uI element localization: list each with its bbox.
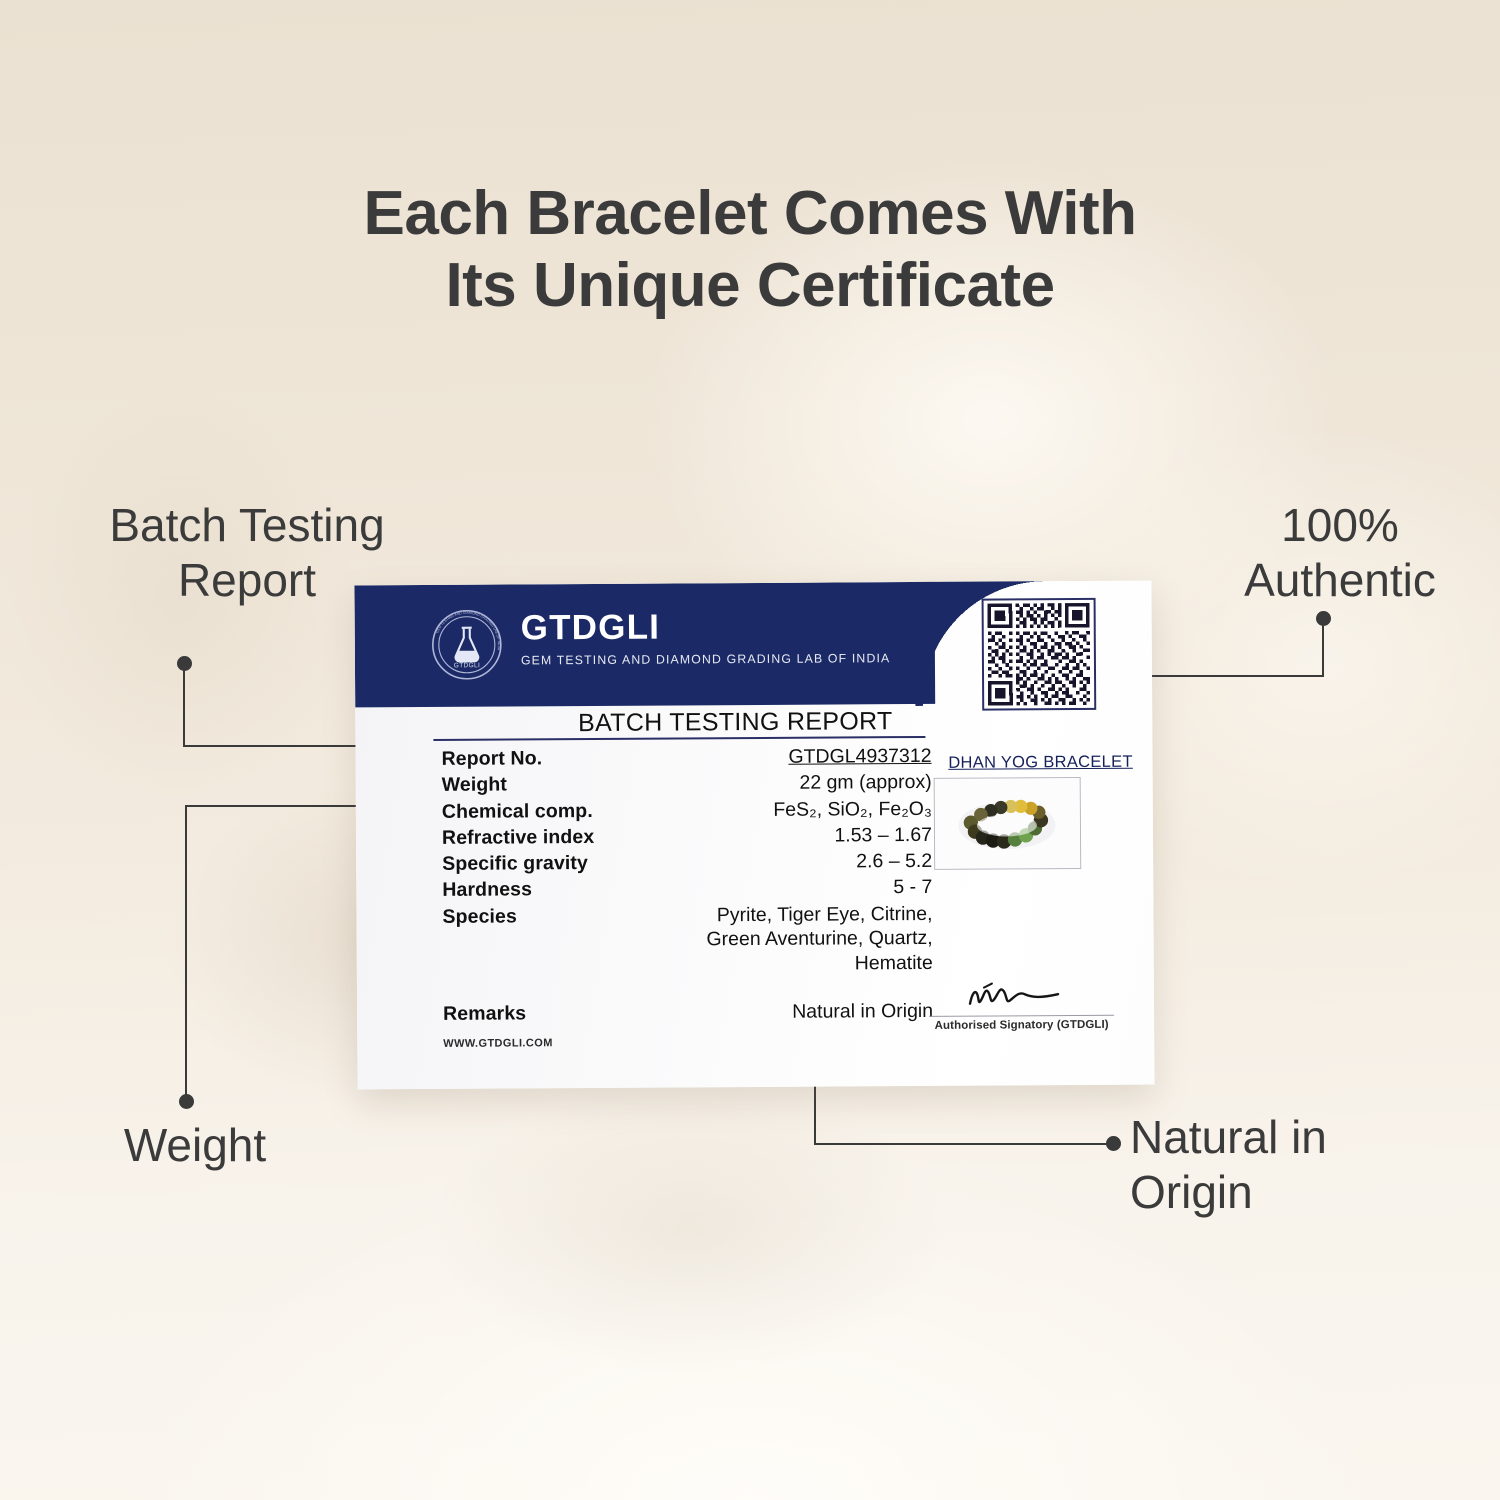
connector-line-authentic-vertical	[1322, 618, 1324, 677]
callout-label-weight: Weight	[60, 1118, 330, 1173]
field-label: Specific gravity	[442, 850, 674, 876]
certificate-card: GTDGLI GEM TESTING AND DIAMOND GRADING L…	[354, 581, 1154, 1090]
field-label: Chemical comp.	[442, 798, 674, 824]
brand-block: GTDGLI GEM TESTING AND DIAMOND GRADING L…	[521, 608, 891, 667]
signature-block: Authorised Signatory (GTDGLI)	[929, 979, 1114, 1032]
connector-line-batch-vertical	[183, 663, 185, 747]
table-row: Weight 22 gm (approx)	[442, 770, 932, 798]
table-row: Specific gravity 2.6 – 5.2	[442, 849, 932, 877]
field-label: Refractive index	[442, 824, 674, 850]
report-fields-table: Report No. GTDGL4937312 Weight 22 gm (ap…	[441, 744, 933, 1028]
table-row: Report No. GTDGL4937312	[441, 744, 931, 772]
callout-label-authentic: 100% Authentic	[1190, 498, 1490, 608]
website-url: WWW.GTDGLI.COM	[443, 1037, 553, 1050]
field-label: Weight	[442, 772, 674, 798]
field-value: FeS₂, SiO₂, Fe₂O₃	[674, 796, 932, 822]
signatory-caption: Authorised Signatory (GTDGLI)	[929, 1019, 1114, 1032]
product-image	[934, 777, 1082, 870]
product-title: DHAN YOG BRACELET	[926, 753, 1155, 773]
page-title-line-1: Each Bracelet Comes With	[363, 179, 1136, 248]
gtdgli-seal-icon: GTDGLI GEM TESTING AND DIAMOND GRADING L…	[431, 609, 503, 681]
field-label: Hardness	[442, 877, 674, 903]
field-label: Remarks	[443, 1000, 675, 1026]
field-value: 2.6 – 5.2	[674, 849, 932, 875]
table-row: Remarks Natural in Origin	[443, 999, 933, 1027]
table-row: Chemical comp. FeS₂, SiO₂, Fe₂O₃	[442, 796, 932, 824]
table-row: Species Pyrite, Tiger Eye, Citrine, Gree…	[442, 901, 932, 978]
field-value: GTDGL4937312	[673, 744, 931, 770]
svg-text:GTDGLI: GTDGLI	[454, 662, 480, 669]
field-label: Report No.	[441, 745, 673, 771]
connector-line-weight-vertical	[185, 806, 187, 1102]
page-title: Each Bracelet Comes With Its Unique Cert…	[0, 178, 1500, 322]
connector-dot-natural-in-origin	[1106, 1136, 1121, 1151]
field-label: Species	[442, 903, 674, 929]
brand-tagline: GEM TESTING AND DIAMOND GRADING LAB OF I…	[521, 651, 891, 667]
brand-name: GTDGLI	[521, 608, 891, 645]
field-value: 1.53 – 1.67	[674, 823, 932, 849]
signature-line	[929, 1015, 1114, 1017]
page-title-line-2: Its Unique Certificate	[0, 250, 1500, 322]
callout-label-natural-in-origin: Natural in Origin	[1130, 1110, 1430, 1220]
qr-code[interactable]	[982, 598, 1097, 711]
connector-line-origin-horizontal	[814, 1143, 1113, 1145]
field-value: 22 gm (approx)	[674, 770, 932, 796]
field-value: 5 - 7	[674, 875, 932, 901]
report-title: BATCH TESTING REPORT	[555, 707, 915, 738]
table-row: Refractive index 1.53 – 1.67	[442, 823, 932, 851]
field-value: Pyrite, Tiger Eye, Citrine, Green Aventu…	[674, 901, 932, 977]
signature-icon	[961, 979, 1081, 1014]
field-value: Natural in Origin	[675, 999, 933, 1025]
table-row: Hardness 5 - 7	[442, 875, 932, 903]
